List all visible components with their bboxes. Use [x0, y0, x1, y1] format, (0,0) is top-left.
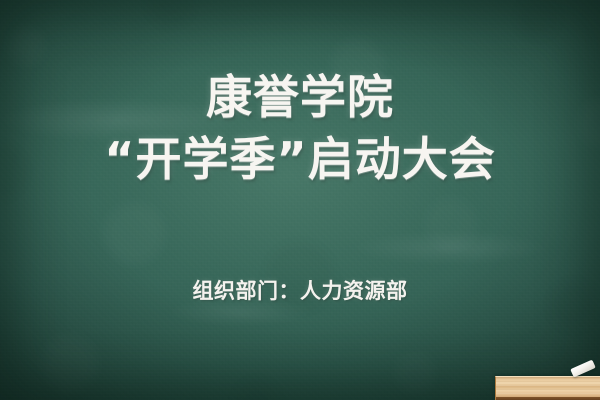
chalk-tray-icon: [495, 376, 600, 400]
presentation-slide: 康誉学院 “开学季”启动大会 组织部门：人力资源部: [0, 0, 600, 400]
slide-title: 康誉学院 “开学季”启动大会: [0, 66, 600, 190]
slide-title-line-2: “开学季”启动大会: [0, 128, 600, 190]
slide-title-line-1: 康誉学院: [0, 66, 600, 128]
slide-text-area: 康誉学院 “开学季”启动大会 组织部门：人力资源部: [0, 0, 600, 400]
slide-subtitle: 组织部门：人力资源部: [0, 275, 600, 305]
